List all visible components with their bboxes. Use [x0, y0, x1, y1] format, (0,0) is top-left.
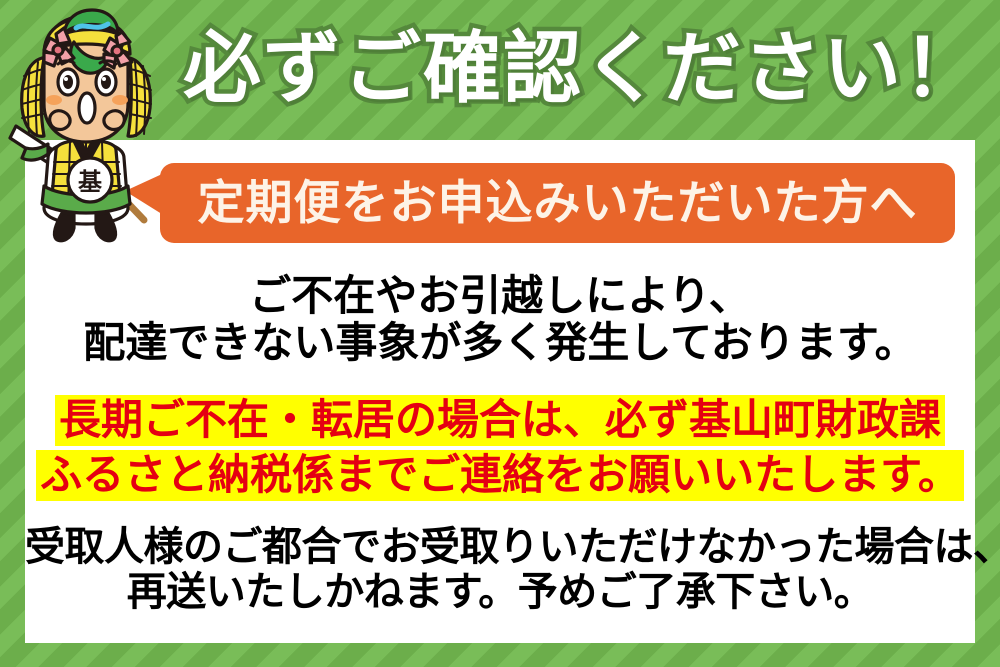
- header-title-text: 必ずご確認ください！: [183, 30, 983, 108]
- notice-line-1: ご不在やお引越しにより、: [25, 272, 975, 319]
- highlight-line-2: ふるさと納税係までご連絡をお願いいたします。: [36, 450, 964, 501]
- mascot-illustration: 基: [4, 8, 169, 243]
- subscription-banner: 定期便をお申込みいただいた方へ: [125, 163, 955, 243]
- closing-line-1: 受取人様のご都合でお受取りいただけなかった場合は、: [25, 525, 975, 570]
- header-title: 必ずご確認ください！: [178, 6, 988, 131]
- poster-root: 基 必ずご確認ください！ 定期便をお申込みいただいた方へ ご不在やお引越しにより…: [0, 0, 1000, 667]
- banner-box: 定期便をお申込みいただいた方へ: [160, 163, 955, 243]
- highlight-block: 長期ご不在・転居の場合は、必ず基山町財政課 ふるさと納税係までご連絡をお願いいた…: [25, 395, 975, 505]
- closing-block: 受取人様のご都合でお受取りいただけなかった場合は、 再送いたしかねます。予めご了…: [25, 525, 975, 615]
- mascot-badge-character: 基: [78, 168, 103, 196]
- notice-line-2: 配達できない事象が多く発生しております。: [25, 319, 975, 366]
- notice-block: ご不在やお引越しにより、 配達できない事象が多く発生しております。: [25, 272, 975, 366]
- banner-label: 定期便をお申込みいただいた方へ: [198, 180, 918, 227]
- closing-line-2: 再送いたしかねます。予めご了承下さい。: [25, 570, 975, 615]
- highlight-line-1: 長期ご不在・転居の場合は、必ず基山町財政課: [55, 395, 945, 446]
